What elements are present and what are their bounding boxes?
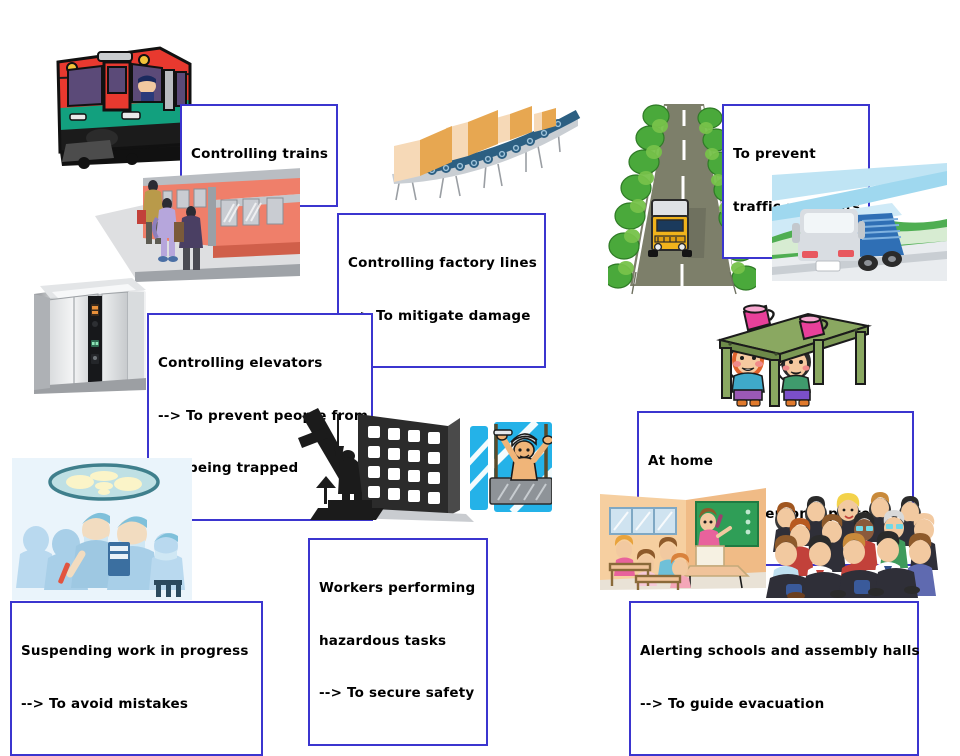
label-line: Alerting schools and assembly halls (640, 643, 908, 661)
label-line: To prevent (733, 146, 859, 164)
illustration-train-at-platform (95, 160, 300, 282)
illustration-hazardous-work-scene (298, 404, 552, 530)
illustration-highway-delivery-truck (772, 163, 947, 281)
illustration-classroom-and-assembly (590, 480, 945, 598)
label-line: --> To guide evacuation (640, 696, 908, 714)
label-suspending-work: Suspending work in progress --> To avoid… (10, 601, 263, 756)
illustration-factory-conveyor-line (382, 100, 582, 205)
label-line: Suspending work in progress (21, 643, 252, 661)
label-alerting-schools: Alerting schools and assembly halls --> … (629, 601, 919, 756)
illustration-elevator-cab (28, 278, 150, 396)
label-line: At home (648, 453, 903, 471)
label-line: hazardous tasks (319, 633, 477, 651)
label-line: Controlling factory lines (348, 255, 535, 273)
label-workers-hazardous-tasks: Workers performing hazardous tasks --> T… (308, 538, 488, 746)
label-line: --> To mitigate damage (348, 308, 535, 326)
label-line: Workers performing (319, 580, 477, 598)
illustration-commuter-train-front (40, 34, 200, 169)
illustration-children-under-table (704, 304, 872, 408)
label-line: Controlling elevators (158, 355, 362, 373)
infographic-canvas: Controlling trains (0, 0, 960, 720)
label-line: --> To avoid mistakes (21, 696, 252, 714)
label-line: --> To secure safety (319, 685, 477, 703)
illustration-surgery-in-progress (12, 458, 192, 600)
